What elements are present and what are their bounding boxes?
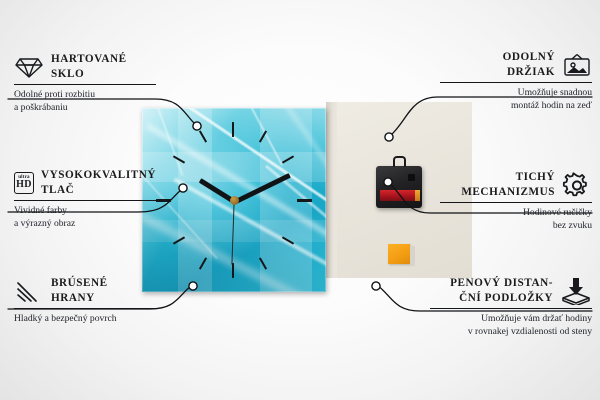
hour-marker (297, 199, 312, 202)
feature-description-line: a výrazný obraz (14, 218, 156, 230)
hour-marker (232, 122, 234, 137)
diamond-icon (14, 54, 44, 80)
hands-center-cap (230, 196, 239, 205)
feature-foam-spacers: PENOVÝ DISTAN- ČNÍ PODLOŽKY Umožňuje vám… (430, 276, 592, 338)
feature-title: BRÚSENÉ HRANY (51, 276, 108, 305)
feature-description: Vividné farby a výrazný obraz (14, 205, 156, 230)
feature-description-line: Vividné farby (14, 205, 156, 217)
feature-title-line: HRANY (51, 291, 108, 306)
feature-head: ultra HD VYSOKOKVALITNÝ TLAČ (14, 168, 156, 197)
ground-edges-icon (14, 278, 44, 304)
feature-head: BRÚSENÉ HRANY (14, 276, 156, 305)
feature-divider (14, 200, 156, 201)
hour-marker (232, 263, 234, 278)
gear-icon (562, 172, 592, 198)
feature-description-line: Odolné proti rozbitiu (14, 89, 156, 101)
foam-spacer-pad-side (410, 246, 415, 266)
feature-description-line: Umožňuje snadnou (440, 87, 592, 99)
feature-divider (14, 308, 156, 309)
wall-hanger-icon (562, 52, 592, 78)
feature-description: Umožňuje snadnou montáž hodin na zeď (440, 87, 592, 112)
feature-title: HARTOVANÉ SKLO (51, 52, 127, 81)
wall-backdrop-edge (326, 102, 337, 278)
feature-title-line: SKLO (51, 67, 127, 82)
hanger-hook (393, 156, 406, 167)
feature-title-line: ODOLNÝ (503, 50, 555, 65)
feature-description: Hladký a bezpečný povrch (14, 313, 156, 325)
feature-title-line: PENOVÝ DISTAN- (450, 276, 553, 291)
feature-description-line: montáž hodin na zeď (440, 100, 592, 112)
battery-terminal (415, 190, 420, 201)
wall-clock-front (142, 108, 326, 292)
feature-divider (14, 84, 156, 85)
feature-title-line: VYSOKOKVALITNÝ (41, 168, 156, 183)
feature-title: VYSOKOKVALITNÝ TLAČ (41, 168, 156, 197)
feature-head: HARTOVANÉ SKLO (14, 52, 156, 81)
feature-title-line: HARTOVANÉ (51, 52, 127, 67)
feature-title-line: BRÚSENÉ (51, 276, 108, 291)
feature-title-line: TLAČ (41, 183, 156, 198)
feature-description-line: a poškrábaniu (14, 102, 156, 114)
feature-head: PENOVÝ DISTAN- ČNÍ PODLOŽKY (430, 276, 592, 305)
feature-title: TICHÝ MECHANIZMUS (461, 170, 555, 199)
feature-description-line: Umožňuje vám držať hodiny (430, 313, 592, 325)
ultra-hd-icon: ultra HD (14, 172, 34, 194)
feature-title-line: ČNÍ PODLOŽKY (450, 291, 553, 306)
feature-divider (430, 308, 592, 309)
clock-mechanism (376, 166, 422, 208)
feature-description-line: v rovnakej vzdialenosti od steny (430, 326, 592, 338)
feature-durable-holder: ODOLNÝ DRŽIAK Umožňuje snadnou montáž ho… (440, 50, 592, 112)
feature-description: Umožňuje vám držať hodiny v rovnakej vzd… (430, 313, 592, 338)
feature-title-line: TICHÝ (461, 170, 555, 185)
battery (380, 190, 418, 201)
feature-tempered-glass: HARTOVANÉ SKLO Odolné proti rozbitiu a p… (14, 52, 156, 114)
feature-description-line: Hladký a bezpečný povrch (14, 313, 156, 325)
feature-divider (440, 202, 592, 203)
mechanism-shaft (408, 174, 415, 181)
feature-title-line: MECHANIZMUS (461, 185, 555, 200)
feature-head: ODOLNÝ DRŽIAK (440, 50, 592, 79)
feature-title: ODOLNÝ DRŽIAK (503, 50, 555, 79)
feature-head: TICHÝ MECHANIZMUS (440, 170, 592, 199)
foam-pad-icon (560, 277, 592, 305)
feature-divider (440, 82, 592, 83)
infographic-canvas: HARTOVANÉ SKLO Odolné proti rozbitiu a p… (0, 0, 600, 400)
ultra-hd-icon-main-text: HD (16, 180, 32, 190)
foam-spacer-pad (388, 244, 410, 264)
feature-description: Odolné proti rozbitiu a poškrábaniu (14, 89, 156, 114)
hour-marker (156, 199, 171, 202)
feature-description-line: bez zvuku (440, 220, 592, 232)
feature-high-quality-print: ultra HD VYSOKOKVALITNÝ TLAČ Vividné far… (14, 168, 156, 230)
feature-title: PENOVÝ DISTAN- ČNÍ PODLOŽKY (450, 276, 553, 305)
feature-silent-mechanism: TICHÝ MECHANIZMUS Hodinové ručičky bez z… (440, 170, 592, 232)
feature-title-line: DRŽIAK (503, 65, 555, 80)
feature-polished-edges: BRÚSENÉ HRANY Hladký a bezpečný povrch (14, 276, 156, 326)
feature-description-line: Hodinové ručičky (440, 207, 592, 219)
feature-description: Hodinové ručičky bez zvuku (440, 207, 592, 232)
product-photo (140, 104, 470, 296)
